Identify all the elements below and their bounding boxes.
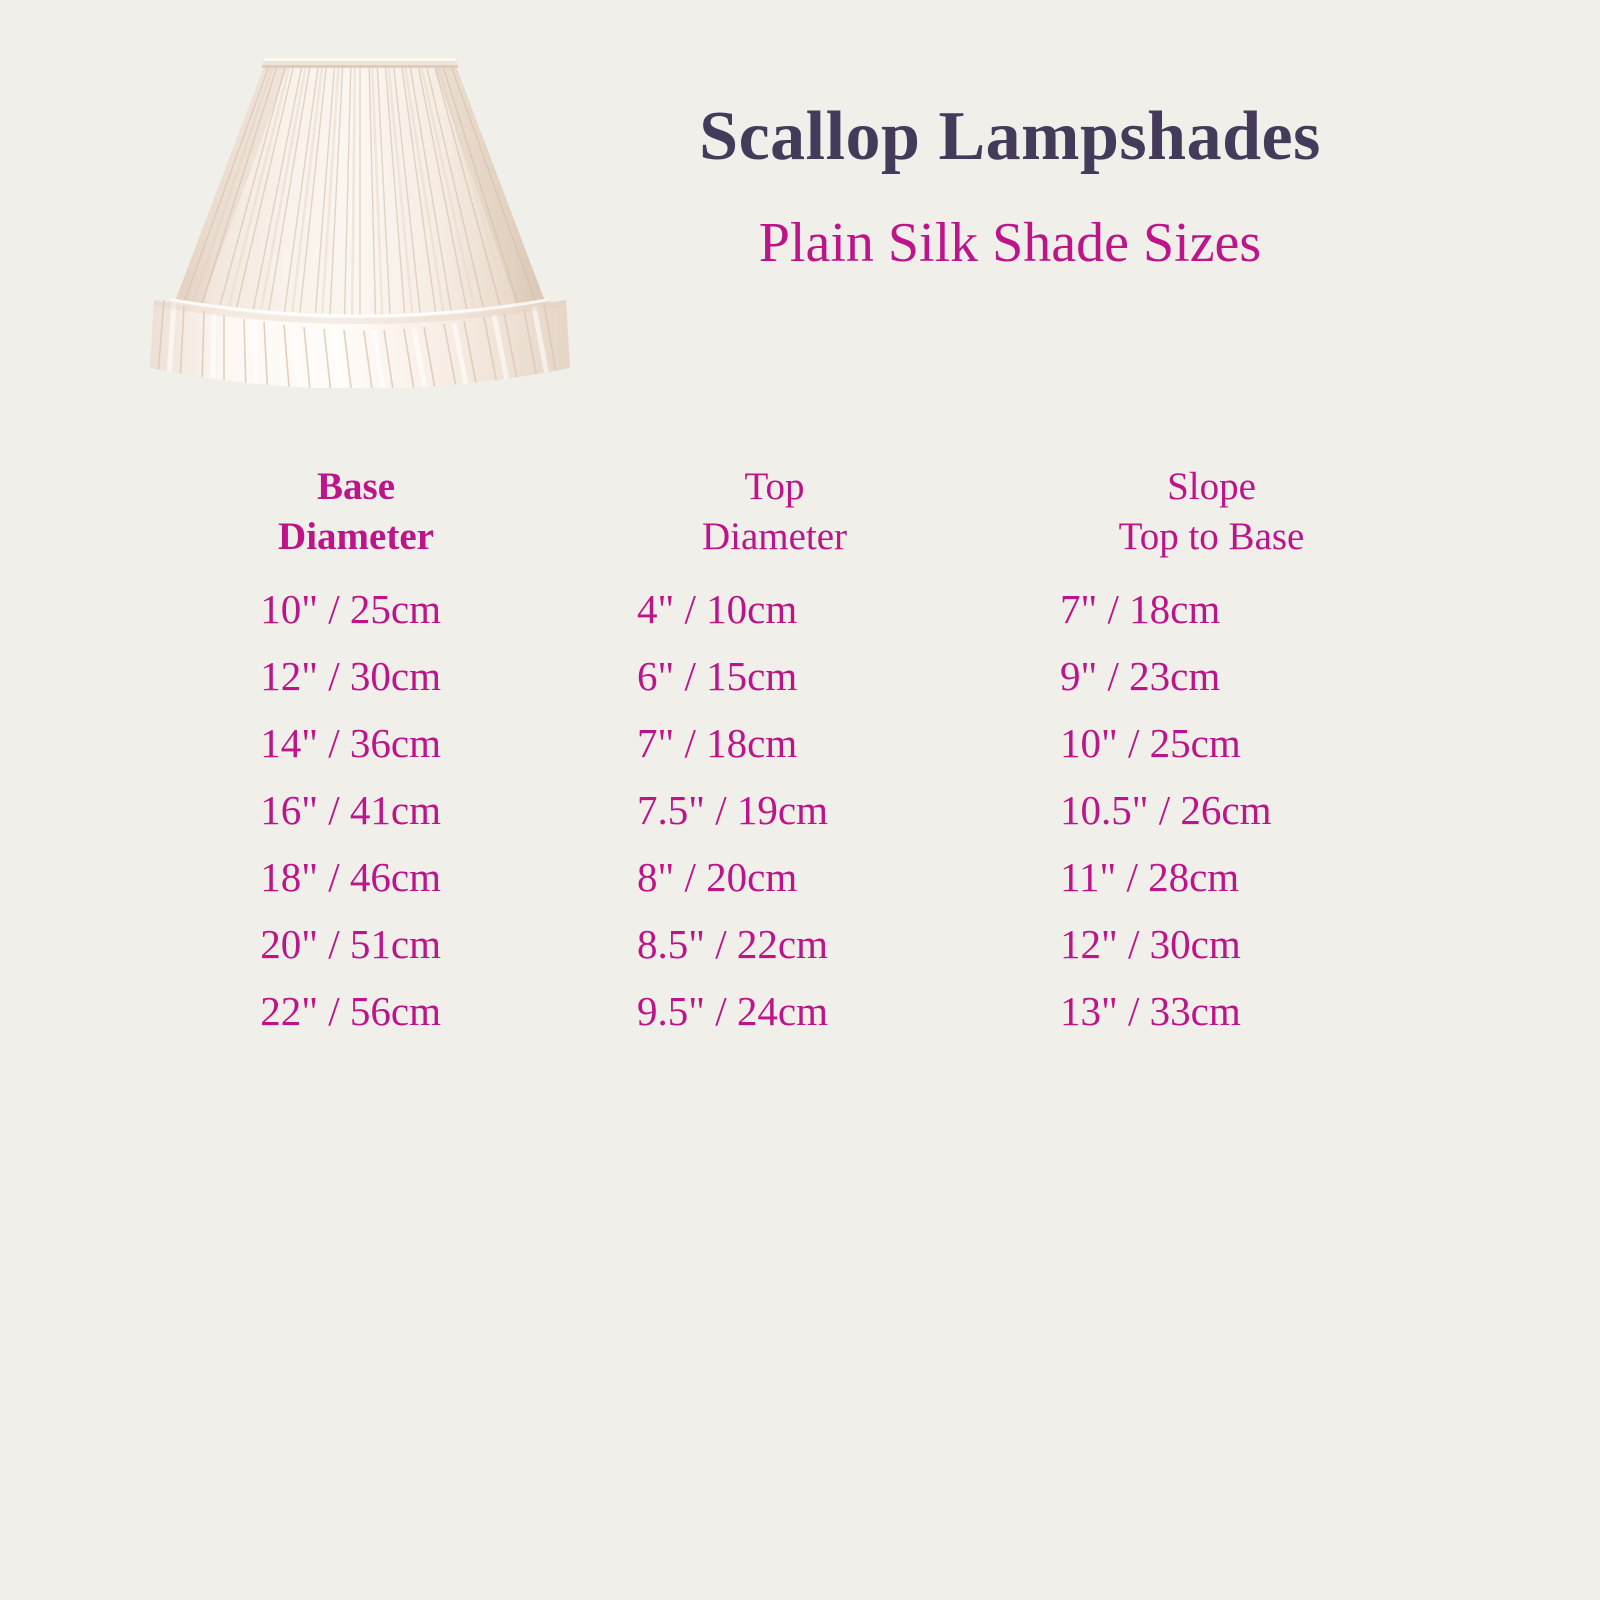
- table-row: 22" / 56cm 9.5" / 24cm 13" / 33cm: [150, 978, 1450, 1045]
- cell-slope: 10.5" / 26cm: [1021, 777, 1450, 844]
- table-row: 10" / 25cm 4" / 10cm 7" / 18cm: [150, 576, 1450, 643]
- cell-top-diameter: 7" / 18cm: [592, 710, 1021, 777]
- cell-slope: 9" / 23cm: [1021, 643, 1450, 710]
- lampshade-product-image: [140, 38, 580, 388]
- table-header-row: Base Diameter Top Diameter Slope Top to …: [150, 462, 1450, 576]
- page-subtitle: Plain Silk Shade Sizes: [600, 174, 1420, 273]
- cell-top-diameter: 7.5" / 19cm: [592, 777, 1021, 844]
- shade-body: [174, 60, 546, 334]
- cell-slope: 12" / 30cm: [1021, 911, 1450, 978]
- cell-base-diameter: 14" / 36cm: [150, 710, 592, 777]
- cell-base-diameter: 18" / 46cm: [150, 844, 592, 911]
- cell-top-diameter: 8.5" / 22cm: [592, 911, 1021, 978]
- cell-base-diameter: 20" / 51cm: [150, 911, 592, 978]
- column-header-top-diameter: Top Diameter: [592, 462, 1021, 576]
- shade-size-table: Base Diameter Top Diameter Slope Top to …: [150, 462, 1450, 1045]
- cell-slope: 11" / 28cm: [1021, 844, 1450, 911]
- cell-base-diameter: 16" / 41cm: [150, 777, 592, 844]
- table-row: 12" / 30cm 6" / 15cm 9" / 23cm: [150, 643, 1450, 710]
- shade-top-rim: [262, 58, 458, 68]
- table-body: 10" / 25cm 4" / 10cm 7" / 18cm 12" / 30c…: [150, 576, 1450, 1045]
- column-header-slope-line2: Top to Base: [1021, 512, 1402, 562]
- column-header-top-diameter-line1: Top: [592, 462, 957, 512]
- cell-top-diameter: 9.5" / 24cm: [592, 978, 1021, 1045]
- cell-top-diameter: 8" / 20cm: [592, 844, 1021, 911]
- table-row: 16" / 41cm 7.5" / 19cm 10.5" / 26cm: [150, 777, 1450, 844]
- column-header-top-diameter-line2: Diameter: [592, 512, 957, 562]
- cell-base-diameter: 10" / 25cm: [150, 576, 592, 643]
- cell-top-diameter: 6" / 15cm: [592, 643, 1021, 710]
- cell-slope: 7" / 18cm: [1021, 576, 1450, 643]
- column-header-base-diameter: Base Diameter: [150, 462, 592, 576]
- column-header-base-diameter-line2: Diameter: [150, 512, 562, 562]
- cell-slope: 10" / 25cm: [1021, 710, 1450, 777]
- column-header-base-diameter-line1: Base: [150, 462, 562, 512]
- cell-base-diameter: 22" / 56cm: [150, 978, 592, 1045]
- cell-base-diameter: 12" / 30cm: [150, 643, 592, 710]
- page-title: Scallop Lampshades: [600, 100, 1420, 174]
- size-table: Base Diameter Top Diameter Slope Top to …: [150, 462, 1450, 1045]
- cell-top-diameter: 4" / 10cm: [592, 576, 1021, 643]
- cell-slope: 13" / 33cm: [1021, 978, 1450, 1045]
- column-header-slope-line1: Slope: [1021, 462, 1402, 512]
- table-row: 20" / 51cm 8.5" / 22cm 12" / 30cm: [150, 911, 1450, 978]
- table-row: 14" / 36cm 7" / 18cm 10" / 25cm: [150, 710, 1450, 777]
- header-block: Scallop Lampshades Plain Silk Shade Size…: [600, 100, 1420, 272]
- table-row: 18" / 46cm 8" / 20cm 11" / 28cm: [150, 844, 1450, 911]
- column-header-slope: Slope Top to Base: [1021, 462, 1450, 576]
